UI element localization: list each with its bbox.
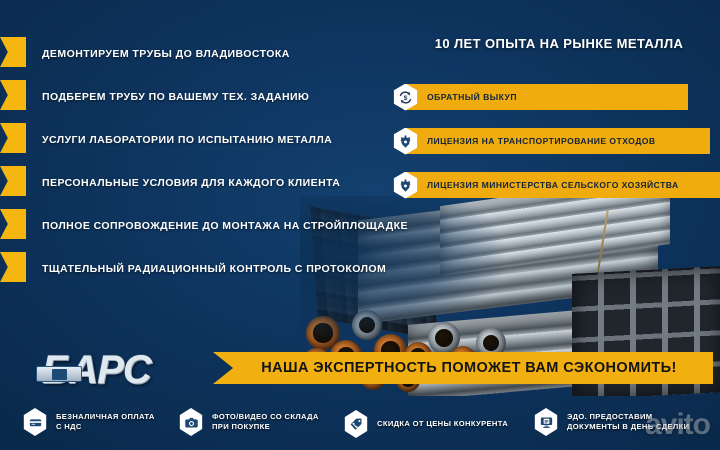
ribbon-marker-icon bbox=[0, 123, 26, 153]
footer-label-line1: СКИДКА ОТ ЦЕНЫ КОНКУРЕНТА bbox=[377, 419, 508, 429]
footer-item-discount: СКИДКА ОТ ЦЕНЫ КОНКУРЕНТА bbox=[343, 410, 508, 438]
payment-card-icon bbox=[22, 408, 48, 436]
footer-item-edo: ЭДО. ПРЕДОСТАВИМ ДОКУМЕНТЫ В ДЕНЬ СДЕЛКИ bbox=[533, 408, 689, 436]
pipe-valve-icon bbox=[36, 366, 82, 382]
feature-item: ДЕМОНТИРУЕМ ТРУБЫ ДО ВЛАДИВОСТОКА bbox=[0, 32, 400, 75]
slogan-banner: НАША ЭКСПЕРТНОСТЬ ПОМОЖЕТ ВАМ СЭКОНОМИТЬ… bbox=[213, 352, 713, 384]
company-logo[interactable]: БAPC bbox=[18, 344, 198, 396]
footer-label: ФОТО/ВИДЕО СО СКЛАДА ПРИ ПОКУПКЕ bbox=[212, 412, 319, 432]
feature-item: УСЛУГИ ЛАБОРАТОРИИ ПО ИСПЫТАНИЮ МЕТАЛЛА bbox=[0, 118, 400, 161]
footer-label-line1: БЕЗНАЛИЧНАЯ ОПЛАТА bbox=[56, 412, 155, 422]
footer-strip: БЕЗНАЛИЧНАЯ ОПЛАТА С НДС ФОТО/ВИДЕО СО С… bbox=[0, 396, 720, 450]
badge-label: ОБРАТНЫЙ ВЫКУП bbox=[427, 92, 517, 102]
ribbon-marker-icon bbox=[0, 252, 26, 282]
feature-item: ПЕРСОНАЛЬНЫЕ УСЛОВИЯ ДЛЯ КАЖДОГО КЛИЕНТА bbox=[0, 161, 400, 204]
feature-label: ТЩАТЕЛЬНЫЙ РАДИАЦИОННЫЙ КОНТРОЛЬ С ПРОТО… bbox=[42, 263, 386, 275]
footer-label-line2: С НДС bbox=[56, 422, 155, 432]
footer-label-line1: ЭДО. ПРЕДОСТАВИМ bbox=[567, 412, 689, 422]
headline: 10 ЛЕТ ОПЫТА НА РЫНКЕ МЕТАЛЛА bbox=[404, 36, 714, 51]
footer-label: БЕЗНАЛИЧНАЯ ОПЛАТА С НДС bbox=[56, 412, 155, 432]
ribbon-marker-icon bbox=[0, 166, 26, 196]
feature-list: ДЕМОНТИРУЕМ ТРУБЫ ДО ВЛАДИВОСТОКА ПОДБЕР… bbox=[0, 32, 400, 290]
svg-text:$: $ bbox=[404, 94, 408, 101]
footer-label-line2: ДОКУМЕНТЫ В ДЕНЬ СДЕЛКИ bbox=[567, 422, 689, 432]
ribbon-marker-icon bbox=[0, 80, 26, 110]
badge-item-buyback: $ ОБРАТНЫЙ ВЫКУП bbox=[392, 84, 720, 110]
badge-label: ЛИЦЕНЗИЯ МИНИСТЕРСТВА СЕЛЬСКОГО ХОЗЯЙСТВ… bbox=[427, 180, 679, 190]
footer-label-line1: ФОТО/ВИДЕО СО СКЛАДА bbox=[212, 412, 319, 422]
footer-label: СКИДКА ОТ ЦЕНЫ КОНКУРЕНТА bbox=[377, 419, 508, 429]
ribbon-marker-icon bbox=[0, 37, 26, 67]
footer-item-payment: БЕЗНАЛИЧНАЯ ОПЛАТА С НДС bbox=[22, 408, 155, 436]
slogan-text: НАША ЭКСПЕРТНОСТЬ ПОМОЖЕТ ВАМ СЭКОНОМИТЬ… bbox=[249, 360, 676, 376]
feature-label: ПЕРСОНАЛЬНЫЕ УСЛОВИЯ ДЛЯ КАЖДОГО КЛИЕНТА bbox=[42, 177, 340, 189]
footer-label-line2: ПРИ ПОКУПКЕ bbox=[212, 422, 319, 432]
banner-canvas: ДЕМОНТИРУЕМ ТРУБЫ ДО ВЛАДИВОСТОКА ПОДБЕР… bbox=[0, 0, 720, 450]
discount-tag-icon bbox=[343, 410, 369, 438]
feature-label: ПОДБЕРЕМ ТРУБУ ПО ВАШЕМУ ТЕХ. ЗАДАНИЮ bbox=[42, 91, 309, 103]
badge-list: $ ОБРАТНЫЙ ВЫКУП ЛИЦЕНЗИЯ НА ТРАНСПОРТИР… bbox=[392, 84, 720, 216]
edo-document-icon bbox=[533, 408, 559, 436]
feature-item: ПОДБЕРЕМ ТРУБУ ПО ВАШЕМУ ТЕХ. ЗАДАНИЮ bbox=[0, 75, 400, 118]
footer-label: ЭДО. ПРЕДОСТАВИМ ДОКУМЕНТЫ В ДЕНЬ СДЕЛКИ bbox=[567, 412, 689, 432]
badge-item-agriculture-license: ЛИЦЕНЗИЯ МИНИСТЕРСТВА СЕЛЬСКОГО ХОЗЯЙСТВ… bbox=[392, 172, 720, 198]
ribbon-marker-icon bbox=[0, 209, 26, 239]
feature-label: ДЕМОНТИРУЕМ ТРУБЫ ДО ВЛАДИВОСТОКА bbox=[42, 48, 290, 60]
badge-label: ЛИЦЕНЗИЯ НА ТРАНСПОРТИРОВАНИЕ ОТХОДОВ bbox=[427, 136, 656, 146]
feature-label: УСЛУГИ ЛАБОРАТОРИИ ПО ИСПЫТАНИЮ МЕТАЛЛА bbox=[42, 134, 332, 146]
feature-item: ПОЛНОЕ СОПРОВОЖДЕНИЕ ДО МОНТАЖА НА СТРОЙ… bbox=[0, 204, 400, 247]
badge-item-waste-license: ЛИЦЕНЗИЯ НА ТРАНСПОРТИРОВАНИЕ ОТХОДОВ bbox=[392, 128, 720, 154]
feature-item: ТЩАТЕЛЬНЫЙ РАДИАЦИОННЫЙ КОНТРОЛЬ С ПРОТО… bbox=[0, 247, 400, 290]
camera-icon bbox=[178, 408, 204, 436]
feature-label: ПОЛНОЕ СОПРОВОЖДЕНИЕ ДО МОНТАЖА НА СТРОЙ… bbox=[42, 220, 408, 232]
footer-item-photo-video: ФОТО/ВИДЕО СО СКЛАДА ПРИ ПОКУПКЕ bbox=[178, 408, 319, 436]
